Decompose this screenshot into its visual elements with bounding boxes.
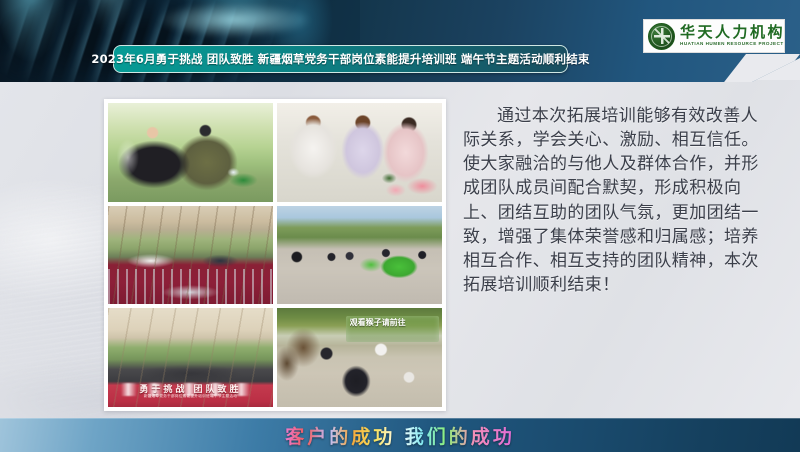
gallery-photo-3 (108, 206, 273, 305)
gallery-photo-5: 勇于挑战 团队致胜 新疆烟草党务干部岗位素能提升培训班端午节主题活动 (108, 308, 273, 407)
gallery-photo-1 (108, 103, 273, 202)
company-logo: 华天人力机构 HUATIAN HUMEN RESOURCE PROJECT (643, 19, 785, 53)
page-title: 2023年6月勇于挑战 团队致胜 新疆烟草党务干部岗位素能提升培训班 端午节主题… (91, 51, 589, 67)
gallery-photo-2 (277, 103, 442, 202)
gallery-photo-6: 观看猴子请前往 (277, 308, 442, 407)
header-glow-accent (120, 0, 350, 50)
photo-banner-subtext: 新疆烟草党务干部岗位素能提升培训班端午节主题活动 (121, 394, 260, 399)
logo-name-cn: 华天人力机构 (680, 25, 785, 40)
slide-footer: 客户的成功 我们的成功 (0, 418, 800, 452)
header-corner-notch (723, 54, 800, 82)
footer-slogan: 客户的成功 我们的成功 (285, 422, 515, 449)
photo-gallery: 勇于挑战 团队致胜 新疆烟草党务干部岗位素能提升培训班端午节主题活动 观看猴子请… (104, 99, 446, 411)
content-paragraph: 通过本次拓展培训能够有效改善人际关系，学会关心、激励、相互信任。使大家融洽的与他… (463, 104, 765, 297)
gallery-photo-4 (277, 206, 442, 305)
slide-title-banner: 2023年6月勇于挑战 团队致胜 新疆烟草党务干部岗位素能提升培训班 端午节主题… (113, 45, 568, 73)
photo-sign-text: 观看猴子请前往 (350, 318, 442, 329)
huatian-emblem-icon (648, 23, 675, 50)
logo-name-en: HUATIAN HUMEN RESOURCE PROJECT (680, 42, 785, 47)
logo-text-block: 华天人力机构 HUATIAN HUMEN RESOURCE PROJECT (680, 25, 785, 47)
presentation-slide: 2023年6月勇于挑战 团队致胜 新疆烟草党务干部岗位素能提升培训班 端午节主题… (0, 0, 800, 452)
